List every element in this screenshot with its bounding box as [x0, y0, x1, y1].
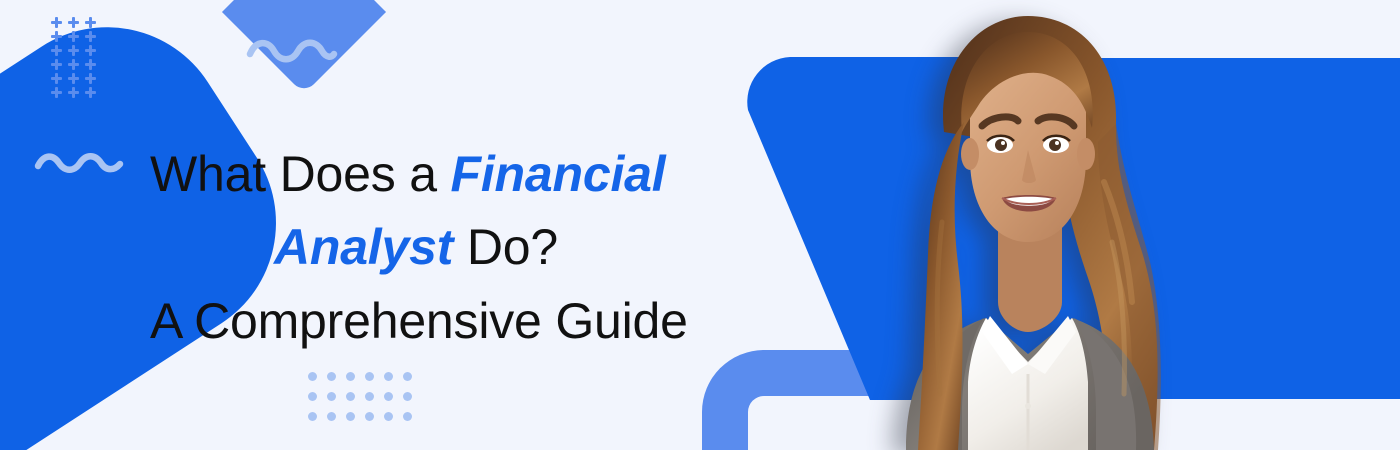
dot-icon	[403, 372, 412, 381]
plus-icon	[48, 86, 65, 100]
dot-icon	[384, 412, 393, 421]
diamond-top-shape	[222, 0, 386, 94]
headline-accent-analyst: Analyst	[274, 219, 453, 275]
plus-icon	[82, 72, 99, 86]
dot-icon	[327, 412, 336, 421]
banner: What Does a Financial Analyst Do? A Comp…	[0, 0, 1400, 450]
portrait-figure	[866, 2, 1186, 450]
dot-icon	[308, 412, 317, 421]
headline-accent-financial: Financial	[451, 146, 666, 202]
headline-line-2: Analyst Do?	[150, 211, 710, 285]
plus-icon	[82, 86, 99, 100]
plus-icon	[65, 86, 82, 100]
dot-icon	[346, 372, 355, 381]
plus-icon	[65, 72, 82, 86]
wave-squiggle-icon	[32, 144, 128, 178]
plus-icon	[48, 58, 65, 72]
plus-grid-decoration	[48, 16, 99, 100]
plus-icon	[82, 16, 99, 30]
dot-icon	[365, 392, 374, 401]
dot-icon	[346, 392, 355, 401]
dot-grid-decoration	[308, 372, 422, 432]
plus-icon	[65, 44, 82, 58]
dot-icon	[403, 412, 412, 421]
plus-icon	[48, 16, 65, 30]
dot-icon	[384, 392, 393, 401]
dot-icon	[327, 392, 336, 401]
dot-icon	[365, 372, 374, 381]
plus-icon	[82, 58, 99, 72]
plus-icon	[82, 44, 99, 58]
plus-icon	[48, 44, 65, 58]
page-title: What Does a Financial Analyst Do? A Comp…	[150, 138, 710, 359]
dot-icon	[384, 372, 393, 381]
plus-icon	[48, 30, 65, 44]
headline-line-3: A Comprehensive Guide	[150, 285, 710, 359]
dot-icon	[403, 392, 412, 401]
plus-icon	[48, 72, 65, 86]
dot-icon	[346, 412, 355, 421]
dot-icon	[327, 372, 336, 381]
plus-icon	[65, 30, 82, 44]
plus-icon	[65, 16, 82, 30]
dot-icon	[308, 392, 317, 401]
dot-icon	[365, 412, 374, 421]
headline-line-1: What Does a Financial	[150, 138, 710, 212]
headline-text-do: Do?	[453, 219, 558, 275]
portrait-illustration	[866, 2, 1186, 450]
headline-text-plain: What Does a	[150, 146, 451, 202]
plus-icon	[82, 30, 99, 44]
dot-icon	[308, 372, 317, 381]
wave-squiggle-icon	[244, 34, 340, 68]
plus-icon	[65, 58, 82, 72]
